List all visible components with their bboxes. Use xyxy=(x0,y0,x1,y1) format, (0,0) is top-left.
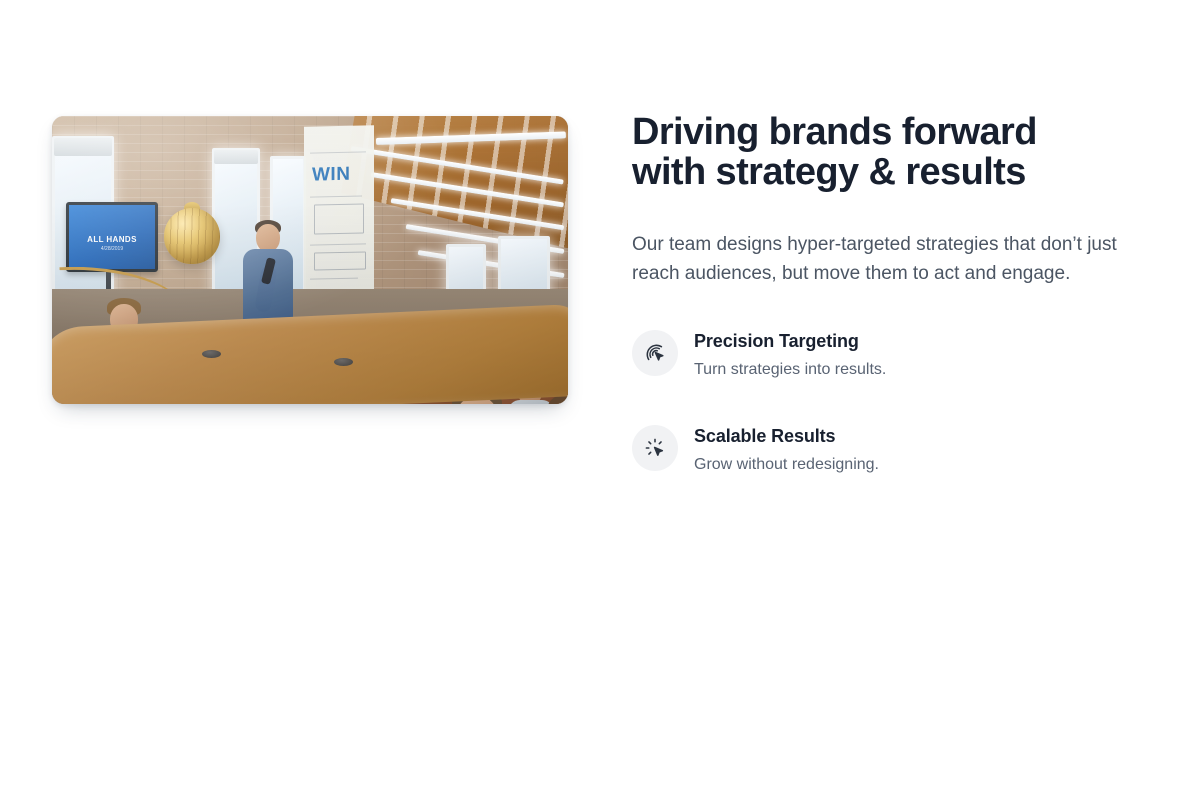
media-column: WIN ALL HANDS 4/28/2019 xyxy=(52,116,568,404)
table-device xyxy=(334,358,353,366)
headline-line-2: with strategy & results xyxy=(632,151,1026,193)
presenter-head xyxy=(256,224,280,252)
feature-title: Precision Targeting xyxy=(694,329,886,353)
cursor-rays-icon xyxy=(632,425,678,471)
table-device xyxy=(202,350,221,358)
attendee-torso xyxy=(508,400,554,404)
brass-pendant-lamp xyxy=(164,208,220,264)
section-description: Our team designs hyper-targeted strategi… xyxy=(632,231,1148,288)
window-blind xyxy=(54,138,112,156)
display-line-1: ALL HANDS xyxy=(87,235,137,244)
window-blind xyxy=(214,150,258,164)
wall-display: ALL HANDS 4/28/2019 xyxy=(66,202,158,272)
feature-list: Precision Targeting Turn strategies into… xyxy=(632,328,1148,476)
feature-text: Scalable Results Grow without redesignin… xyxy=(694,423,879,476)
cursor-click-icon xyxy=(632,330,678,376)
feature-description: Turn strategies into results. xyxy=(694,359,886,381)
feature-text: Precision Targeting Turn strategies into… xyxy=(694,328,886,381)
feature-section: WIN ALL HANDS 4/28/2019 xyxy=(0,0,1200,800)
feature-item-precision-targeting: Precision Targeting Turn strategies into… xyxy=(632,328,1148,381)
feature-description: Grow without redesigning. xyxy=(694,454,879,476)
feature-title: Scalable Results xyxy=(694,424,879,448)
display-line-2: 4/28/2019 xyxy=(101,246,123,252)
feature-item-scalable-results: Scalable Results Grow without redesignin… xyxy=(632,423,1148,476)
page-root: WIN ALL HANDS 4/28/2019 xyxy=(0,0,1200,800)
headline-line-1: Driving brands forward xyxy=(632,111,1037,153)
poster-headline-text: WIN xyxy=(312,164,350,187)
content-column: Driving brands forwardwith strategy & re… xyxy=(632,112,1148,476)
hero-image-frame: WIN ALL HANDS 4/28/2019 xyxy=(52,116,568,404)
office-meeting-photo: WIN ALL HANDS 4/28/2019 xyxy=(52,116,568,404)
page-title: Driving brands forwardwith strategy & re… xyxy=(632,112,1112,192)
